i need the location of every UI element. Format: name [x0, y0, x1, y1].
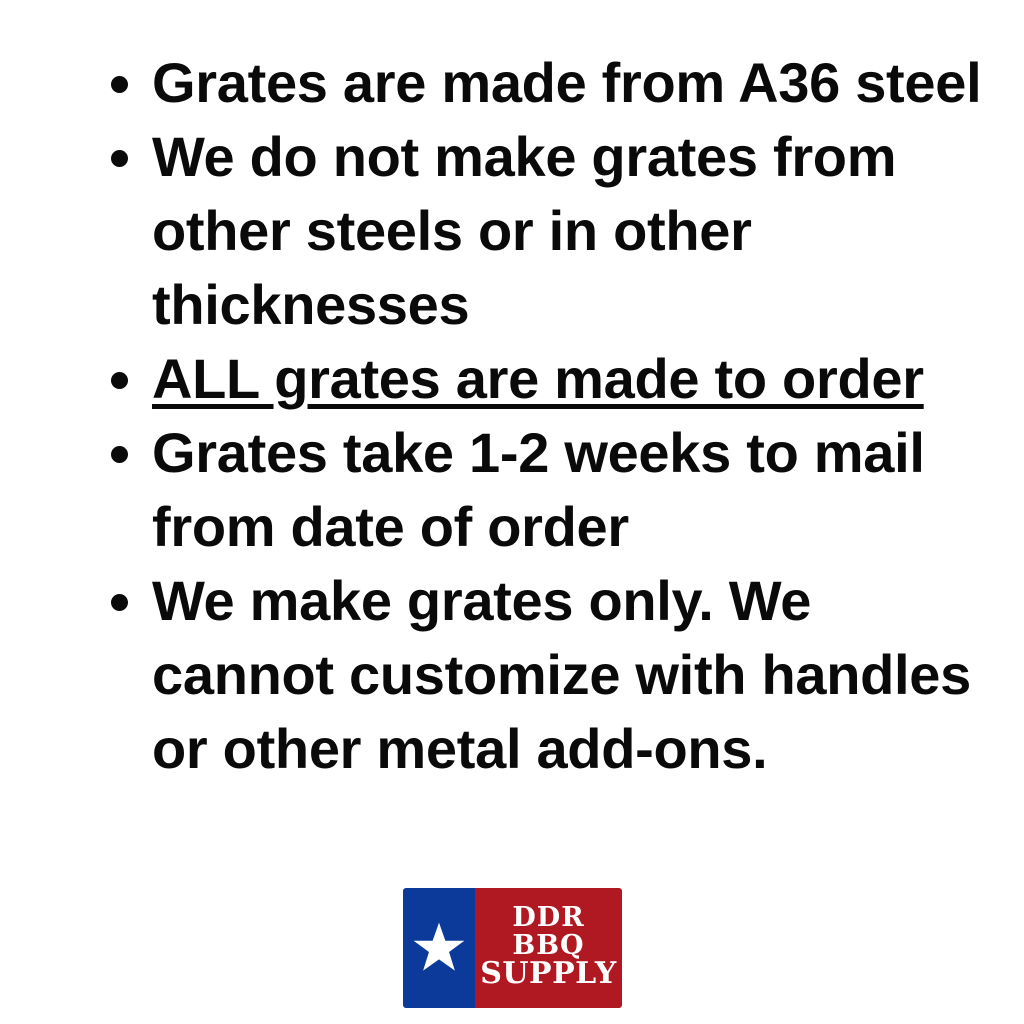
bullet-point-icon	[111, 564, 129, 638]
list-item: Grates are made from A36 steel	[104, 46, 984, 120]
list-item: We do not make grates from other steels …	[104, 120, 984, 342]
logo-text-supply: SUPPLY	[480, 959, 617, 990]
logo-text-bbq: BBQ	[512, 932, 584, 960]
list-item-text: Grates are made from A36 steel	[152, 46, 984, 120]
list-item: ALL grates are made to order	[104, 342, 984, 416]
bullet-point-icon	[111, 342, 129, 416]
texas-star-icon	[412, 921, 466, 975]
logo-name-panel: DDR BBQ SUPPLY	[475, 888, 622, 1008]
list-item-text: We do not make grates from other steels …	[152, 120, 984, 342]
brand-logo: DDR BBQ SUPPLY	[403, 888, 622, 1008]
logo-text-ddr: DDR	[512, 904, 584, 932]
bullet-point-icon	[111, 120, 129, 194]
list-item-text: We make grates only. We cannot customize…	[152, 564, 984, 786]
list-item-text: Grates take 1-2 weeks to mail from date …	[152, 416, 984, 564]
policy-bullet-list: Grates are made from A36 steel We do not…	[104, 46, 984, 786]
list-item-text-underlined: ALL grates are made to order	[152, 342, 984, 416]
page-canvas: Grates are made from A36 steel We do not…	[0, 0, 1024, 1024]
list-item: Grates take 1-2 weeks to mail from date …	[104, 416, 984, 564]
logo-flag-panel	[403, 888, 475, 1008]
bullet-point-icon	[111, 46, 129, 120]
list-item: We make grates only. We cannot customize…	[104, 564, 984, 786]
bullet-point-icon	[111, 416, 129, 490]
